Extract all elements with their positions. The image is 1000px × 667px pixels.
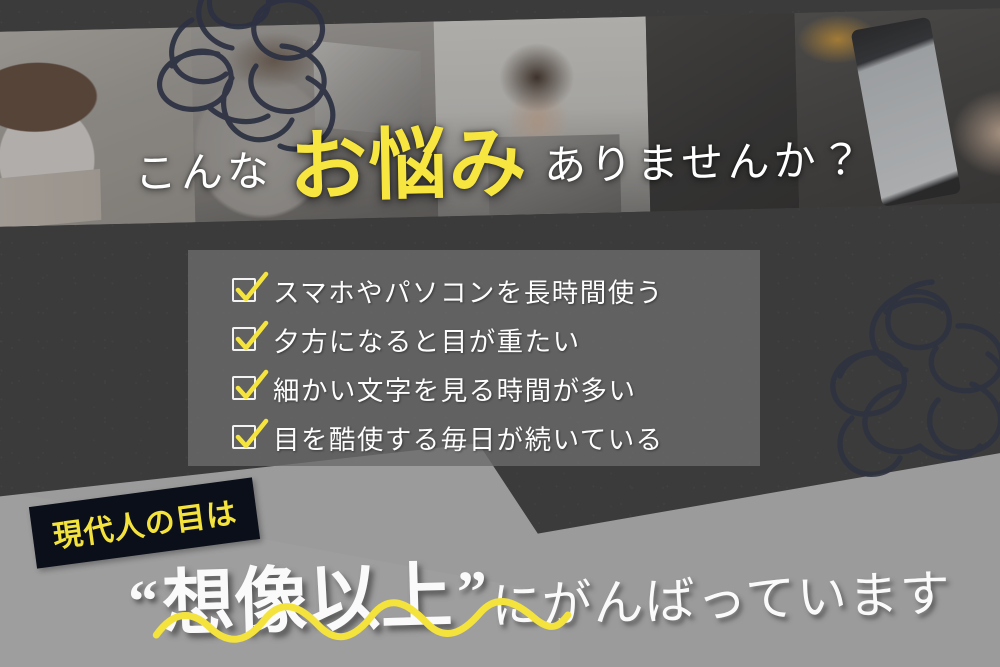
list-item: スマホやパソコンを長時間使う	[232, 267, 760, 313]
headline-trail: ありませんか？	[543, 126, 866, 193]
list-item: 目を酷使する毎日が続いている	[232, 414, 760, 460]
list-item-label: 目を酷使する毎日が続いている	[273, 418, 664, 457]
list-item-label: 細かい文字を見る時間が多い	[273, 369, 636, 408]
headline-lead: こんな	[134, 137, 274, 201]
checkbox-checked-icon	[232, 278, 256, 302]
checkbox-checked-icon	[232, 327, 256, 351]
list-item-label: スマホやパソコンを長時間使う	[273, 271, 664, 310]
checkbox-checked-icon	[232, 376, 256, 400]
main-headline: こんな お悩み ありませんか？	[0, 82, 1000, 213]
checkbox-checked-icon	[232, 425, 256, 449]
headline-accent: お悩み	[288, 100, 529, 217]
list-item: 細かい文字を見る時間が多い	[232, 365, 760, 411]
promo-banner: こんな お悩み ありませんか？ スマホやパソコンを長時間使う 夕方になると目が重…	[0, 0, 1000, 667]
list-item-label: 夕方になると目が重たい	[273, 320, 581, 359]
list-item: 夕方になると目が重たい	[232, 316, 760, 362]
checklist-panel: スマホやパソコンを長時間使う 夕方になると目が重たい 細かい文字を見る時間が多い	[188, 250, 760, 466]
